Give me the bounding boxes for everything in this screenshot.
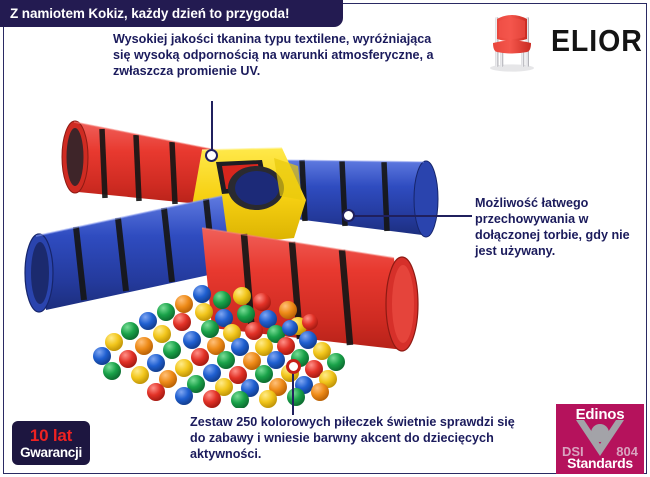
callout-storage-marker [342,209,355,222]
brand-logo[interactable]: ELIOR [483,8,643,74]
warranty-years: 10 lat [30,427,72,444]
red-chair-icon [483,9,541,73]
product-photo [6,88,476,408]
banner-title: Z namiotem Kokiz, każdy dzień to przygod… [10,6,289,21]
callout-fabric-text: Wysokiej jakości tkanina typu textilene,… [113,32,443,80]
edinos-standards-label: Standards [556,455,644,471]
infographic-page: Z namiotem Kokiz, każdy dzień to przygod… [0,0,650,477]
warranty-label: Gwarancji [20,446,82,460]
header-banner: Z namiotem Kokiz, każdy dzień to przygod… [0,0,343,27]
callout-fabric-leader [211,101,213,156]
edinos-standards-badge: Edinos DSI 804 Standards [556,404,644,474]
callout-storage-text: Możliwość łatwego przechowywania w dołąc… [475,196,650,259]
callout-fabric-marker [205,149,218,162]
callout-balls-leader [292,370,294,415]
callout-balls-marker [286,359,301,374]
callout-balls-text: Zestaw 250 kolorowych piłeczek świetnie … [190,415,520,463]
warranty-badge: 10 lat Gwarancji [12,421,90,465]
brand-name: ELIOR [551,23,643,59]
callout-storage-leader [352,215,472,217]
